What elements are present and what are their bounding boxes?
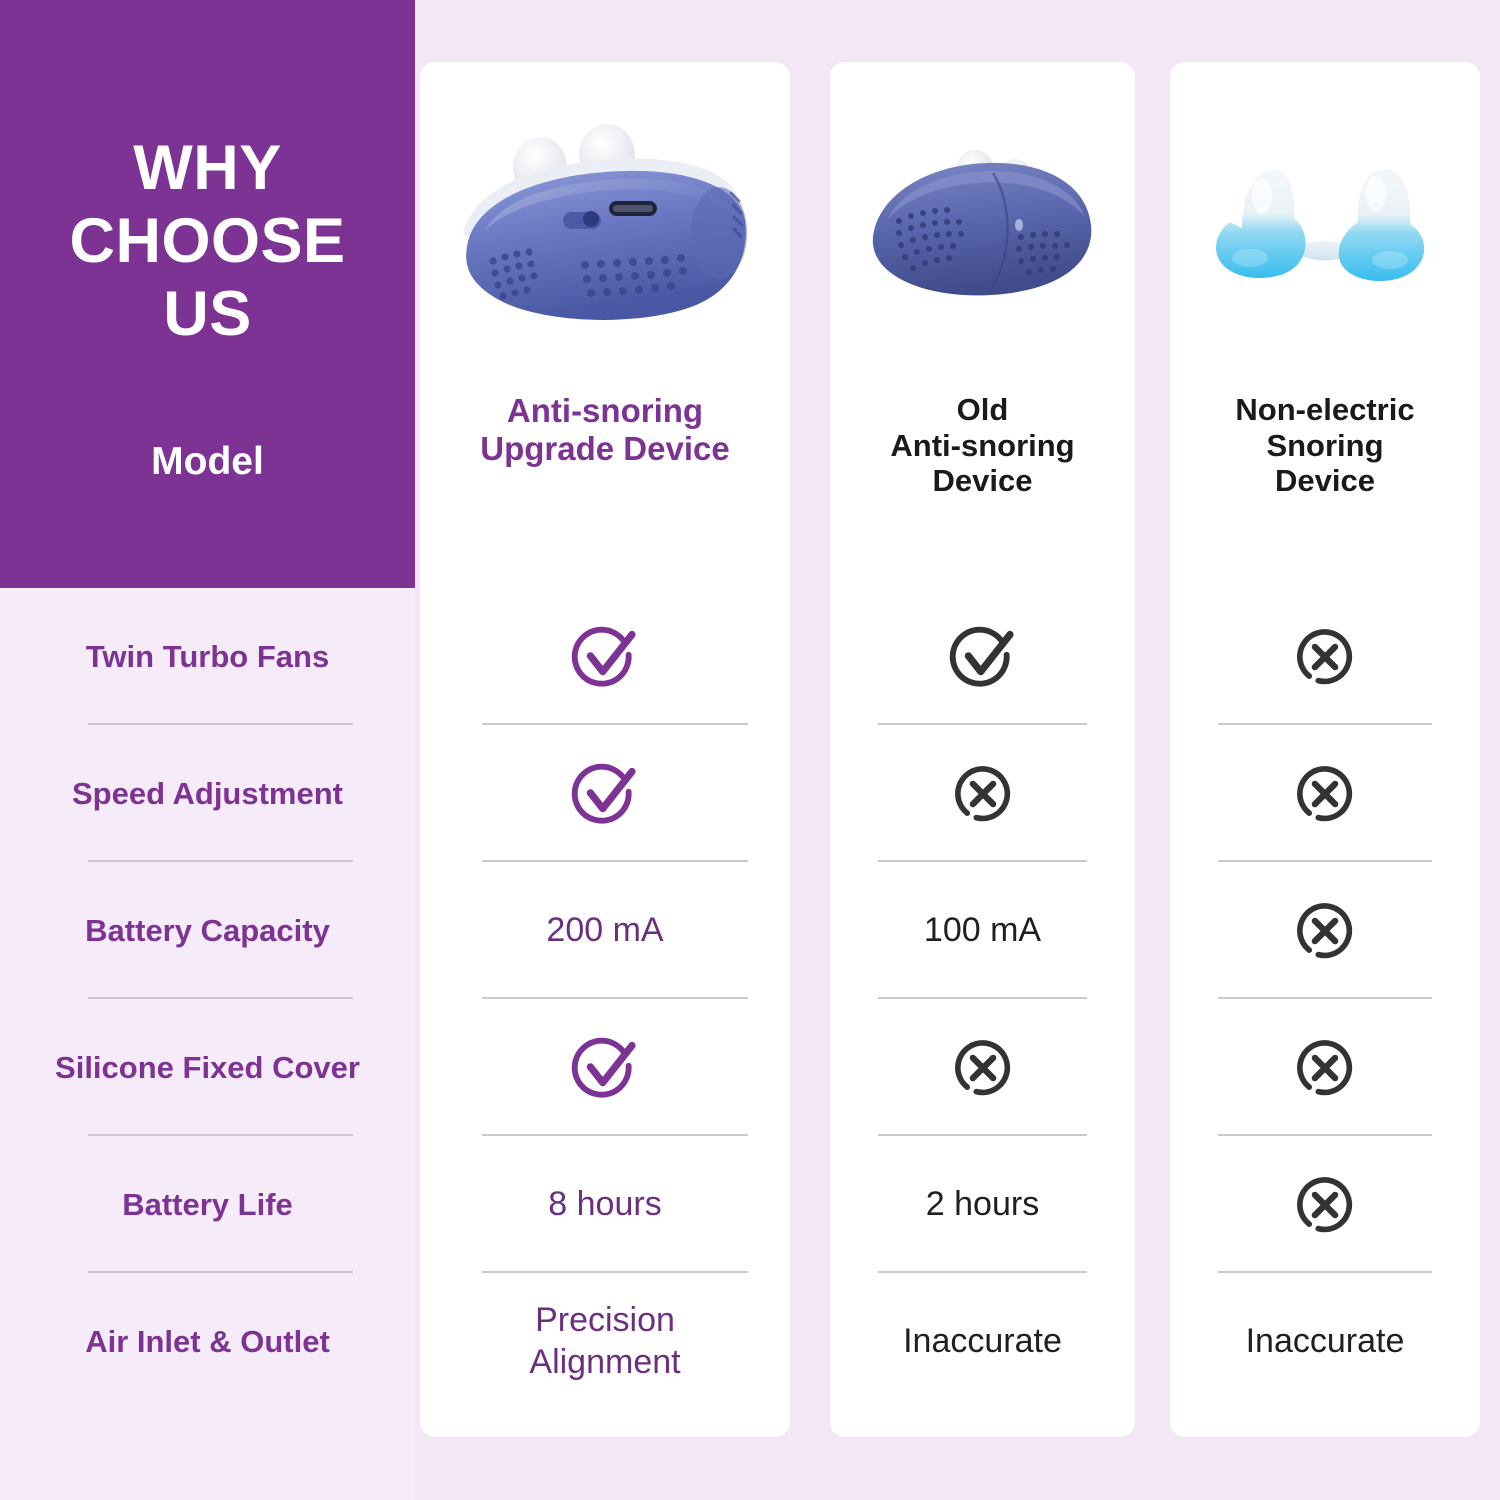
cell-value: 200 mA	[546, 910, 663, 951]
feature-label: Battery Capacity	[71, 912, 344, 949]
cell-battery-capacity	[1170, 862, 1480, 999]
cell-air-inlet-outlet: Inaccurate	[830, 1273, 1135, 1410]
card-title-line-2: Snoring	[1235, 428, 1414, 464]
feature-label: Twin Turbo Fans	[72, 638, 343, 675]
feature-row-speed-adjustment: Speed Adjustment	[0, 725, 415, 862]
cell-air-inlet-outlet: Inaccurate	[1170, 1273, 1480, 1410]
why-choose-us-header-block: WHY CHOOSE US Model	[0, 0, 415, 588]
cell-silicone-fixed-cover	[830, 999, 1135, 1136]
cross-circle-icon	[1289, 1032, 1361, 1104]
cell-value: 2 hours	[926, 1184, 1039, 1225]
cell-twin-turbo-fans	[830, 588, 1135, 725]
feature-label: Speed Adjustment	[58, 775, 357, 812]
cell-value-line-2: Alignment	[529, 1342, 680, 1383]
card-title-line-1: Non-electric	[1235, 392, 1414, 428]
card-title: Non-electric Snoring Device	[1223, 392, 1426, 499]
title-line-1: WHY	[0, 132, 415, 205]
cell-battery-life: 8 hours	[420, 1136, 790, 1273]
feature-label: Air Inlet & Outlet	[71, 1323, 344, 1360]
cell-twin-turbo-fans	[1170, 588, 1480, 725]
check-circle-icon	[569, 621, 641, 693]
feature-row-air-inlet-outlet: Air Inlet & Outlet	[0, 1273, 415, 1410]
cell-air-inlet-outlet: Precision Alignment	[420, 1273, 790, 1410]
feature-row-battery-capacity: Battery Capacity	[0, 862, 415, 999]
cell-value: Inaccurate	[903, 1321, 1062, 1362]
cell-value: Precision Alignment	[529, 1300, 680, 1383]
check-circle-icon	[947, 621, 1019, 693]
cell-battery-capacity: 200 mA	[420, 862, 790, 999]
cell-speed-adjustment	[1170, 725, 1480, 862]
title-line-2: CHOOSE	[0, 205, 415, 278]
cell-battery-life: 2 hours	[830, 1136, 1135, 1273]
feature-label: Silicone Fixed Cover	[41, 1049, 374, 1086]
product-image-upgrade-device	[420, 62, 790, 392]
product-card-anti-snoring-upgrade-device: Anti-snoring Upgrade Device	[420, 62, 790, 1437]
product-card-old-anti-snoring-device: Old Anti-snoring Device	[830, 62, 1135, 1437]
feature-row-twin-turbo-fans: Twin Turbo Fans	[0, 588, 415, 725]
card-title-line-2: Anti-snoring	[890, 428, 1074, 464]
cell-silicone-fixed-cover	[420, 999, 790, 1136]
card-header: Anti-snoring Upgrade Device	[420, 62, 790, 588]
card-title-line-1: Old	[890, 392, 1074, 428]
card-title-line-3: Device	[890, 463, 1074, 499]
cell-battery-capacity: 100 mA	[830, 862, 1135, 999]
card-title-line-1: Anti-snoring	[480, 392, 729, 430]
feature-row-battery-life: Battery Life	[0, 1136, 415, 1273]
cross-circle-icon	[947, 758, 1019, 830]
cell-twin-turbo-fans	[420, 588, 790, 725]
cell-value: 8 hours	[548, 1184, 661, 1225]
feature-label-column: Twin Turbo Fans Speed Adjustment Battery…	[0, 588, 415, 1500]
card-cells: Inaccurate	[1170, 588, 1480, 1410]
cell-speed-adjustment	[830, 725, 1135, 862]
product-card-non-electric-snoring-device: Non-electric Snoring Device	[1170, 62, 1480, 1437]
card-cells: 200 mA 8 hours Precision Ali	[420, 588, 790, 1410]
model-row-header: Model	[0, 440, 415, 484]
card-title: Old Anti-snoring Device	[878, 392, 1086, 499]
cross-circle-icon	[1289, 621, 1361, 693]
non-electric-silicone-nasal-dilator-icon	[1200, 152, 1450, 302]
comparison-infographic: WHY CHOOSE US Model Twin Turbo Fans Spee…	[0, 0, 1500, 1500]
cell-value-line-1: Precision	[529, 1300, 680, 1341]
cell-value: 100 mA	[924, 910, 1041, 951]
product-image-old-device	[830, 62, 1135, 392]
card-header: Non-electric Snoring Device	[1170, 62, 1480, 588]
card-title: Anti-snoring Upgrade Device	[468, 392, 741, 468]
check-circle-icon	[569, 1032, 641, 1104]
cross-circle-icon	[1289, 895, 1361, 967]
card-title-line-3: Device	[1235, 463, 1414, 499]
cell-value: Inaccurate	[1246, 1321, 1405, 1362]
cross-circle-icon	[1289, 1169, 1361, 1241]
feature-label: Battery Life	[108, 1186, 307, 1223]
cross-circle-icon	[947, 1032, 1019, 1104]
check-circle-icon	[569, 758, 641, 830]
cross-circle-icon	[1289, 758, 1361, 830]
product-image-non-electric-device	[1170, 62, 1480, 392]
cell-speed-adjustment	[420, 725, 790, 862]
cell-silicone-fixed-cover	[1170, 999, 1480, 1136]
old-blue-anti-snoring-device-icon	[863, 145, 1103, 310]
title-line-3: US	[0, 278, 415, 351]
card-header: Old Anti-snoring Device	[830, 62, 1135, 588]
cell-battery-life	[1170, 1136, 1480, 1273]
page-title: WHY CHOOSE US	[0, 132, 415, 351]
blue-electric-anti-snoring-device-icon	[445, 115, 765, 340]
card-cells: 100 mA 2 hours Inaccurate	[830, 588, 1135, 1410]
card-title-line-2: Upgrade Device	[480, 430, 729, 468]
feature-row-silicone-fixed-cover: Silicone Fixed Cover	[0, 999, 415, 1136]
